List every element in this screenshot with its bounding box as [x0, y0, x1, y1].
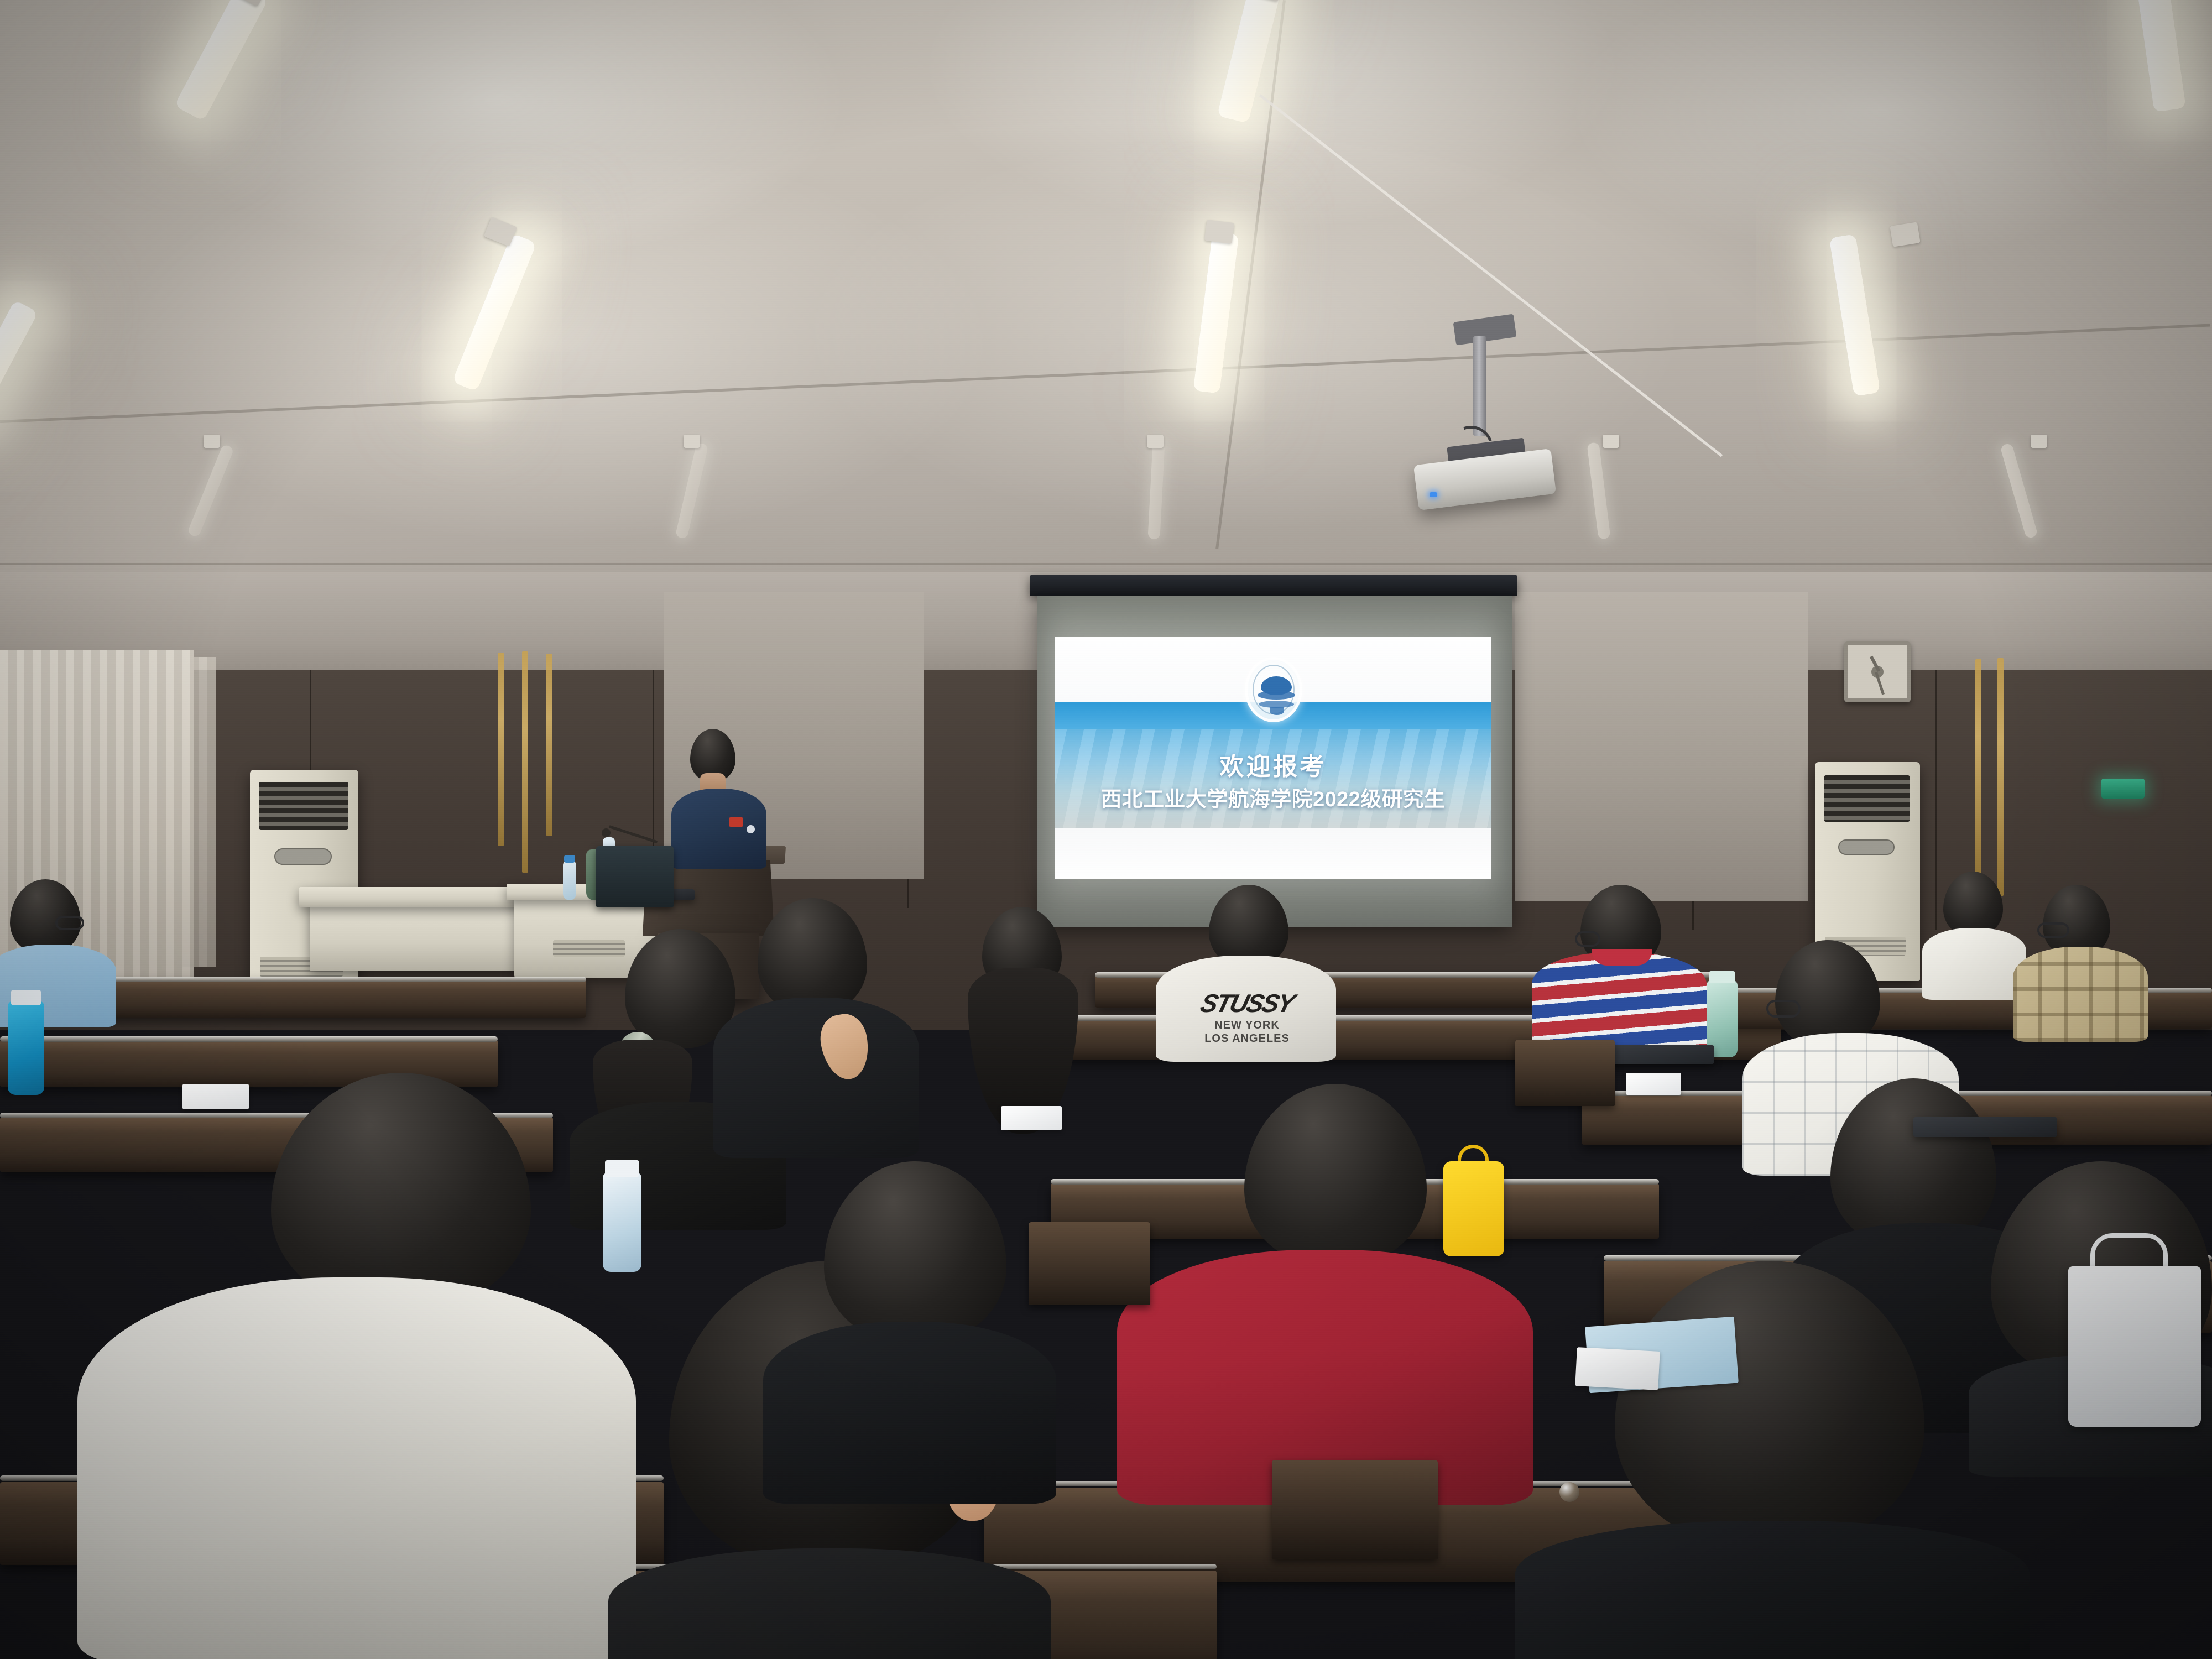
presenter-second-badge — [747, 825, 755, 833]
light-fixture-cap — [684, 435, 700, 448]
attendee-head — [824, 1161, 1006, 1344]
white-paper-sheet — [1575, 1347, 1660, 1390]
wall-column-right — [1515, 592, 1808, 901]
tshirt-city-line-2: LOS ANGELES — [1156, 1033, 1338, 1045]
attendee-head — [1244, 1084, 1427, 1266]
attendee-plaid-shirt-right — [2013, 885, 2151, 1040]
av-control-desk — [310, 900, 520, 971]
ac-display-panel — [1838, 839, 1895, 855]
attendee-torso — [763, 1322, 1056, 1504]
attendee-torso-striped — [1532, 952, 1707, 1052]
presenter-at-podium — [671, 729, 771, 867]
slide-subline: 西北工业大学航海学院2022级研究生 — [1055, 782, 1491, 812]
light-fixture-cap — [1890, 222, 1920, 247]
eyeglasses — [1766, 1000, 1801, 1018]
slide-headline: 欢迎报考 — [1055, 747, 1491, 782]
projector-screen-roller-case — [1030, 575, 1517, 596]
attendee-striped-polo — [1532, 885, 1709, 1051]
light-fixture-cap — [2031, 435, 2047, 448]
attendee-head — [271, 1073, 531, 1311]
attendee-head — [758, 898, 867, 1014]
bottle-cap — [605, 1160, 639, 1177]
bottle-cap — [564, 855, 575, 863]
attendee-head — [1775, 940, 1880, 1048]
slide-bottom-band — [1055, 828, 1491, 879]
ceiling-seam — [0, 563, 2212, 565]
attendee-white-front-left — [66, 1073, 653, 1659]
attendee-stussy-tshirt: STUSSY NEW YORK LOS ANGELES — [1156, 885, 1338, 1062]
attendee-torso-white — [77, 1277, 636, 1659]
gold-trim-strip — [1975, 659, 1981, 880]
light-fixture-cap — [1147, 435, 1164, 448]
attendee-torso — [713, 998, 919, 1158]
water-bottle-clear-front — [603, 1172, 641, 1272]
white-paper-sheet — [1626, 1073, 1681, 1095]
polo-collar — [1592, 949, 1652, 966]
white-paper-sheet — [182, 1084, 249, 1109]
attendee-torso — [608, 1548, 1051, 1659]
emergency-exit-sign — [2101, 779, 2145, 799]
attendee-long-hair-center — [940, 907, 1106, 1139]
podium-microphone-head — [602, 828, 611, 837]
projector-mount-pole — [1473, 336, 1486, 436]
lecture-hall-photograph: 欢迎报考 西北工业大学航海学院2022级研究生 — [0, 0, 2212, 1659]
yellow-speaker-case — [1443, 1161, 1504, 1256]
bottle-cap — [1709, 971, 1735, 983]
eyeglasses — [55, 916, 84, 930]
ceiling-surface — [0, 0, 2212, 597]
tshirt-brand-graphic: STUSSY — [1152, 990, 1342, 1016]
gold-trim-strip — [1997, 658, 2004, 896]
water-bottle-presenter-desk — [563, 860, 576, 900]
bench-seat-back — [1029, 1222, 1150, 1305]
bench-seat-back — [1515, 1040, 1615, 1106]
light-fixture-cap — [204, 435, 220, 448]
attendee-torso — [1515, 1521, 2030, 1659]
bottle-cap — [11, 990, 41, 1005]
wall-clock — [1844, 641, 1911, 702]
tshirt-city-line-1: NEW YORK — [1156, 1020, 1338, 1031]
emblem-wave-shape — [1258, 691, 1295, 700]
white-paper-sheet — [1001, 1106, 1062, 1130]
projector-power-led — [1430, 492, 1437, 497]
av-control-desk — [299, 887, 531, 907]
attendee-torso-plaid — [2013, 947, 2148, 1042]
white-plastic-bag — [2068, 1266, 2201, 1427]
light-fixture-cap — [1603, 435, 1619, 448]
eyeglasses — [1575, 931, 1600, 947]
bench-edge-trim — [0, 1036, 498, 1042]
laptop-on-bench — [1913, 1117, 2057, 1137]
ac-air-grille — [1824, 775, 1910, 822]
attendee-head — [1943, 872, 2003, 937]
water-bottle-blue-foreground — [8, 1001, 44, 1095]
light-fixture-cap — [1204, 220, 1234, 244]
window-curtain — [182, 657, 216, 967]
attendee-foreground-right — [1493, 1261, 2046, 1659]
emblem-ship-shape — [1270, 707, 1284, 715]
gold-trim-strip — [498, 653, 504, 846]
ac-display-panel — [274, 848, 332, 865]
gold-trim-strip — [522, 651, 528, 873]
gold-trim-strip — [546, 654, 552, 836]
office-chair-back — [596, 846, 674, 907]
bench-seat-back — [1272, 1460, 1438, 1559]
attendee-mid-left-dark — [763, 1161, 1062, 1504]
eyeglasses — [2037, 922, 2069, 938]
presenter-lapel-badge — [729, 817, 743, 827]
ac-air-grille — [259, 782, 348, 830]
attendee-dark-center — [713, 898, 924, 1158]
university-emblem-logo — [1245, 657, 1302, 722]
attendee-head — [1615, 1261, 1924, 1548]
presentation-slide: 欢迎报考 西北工业大学航海学院2022级研究生 — [1055, 637, 1491, 879]
